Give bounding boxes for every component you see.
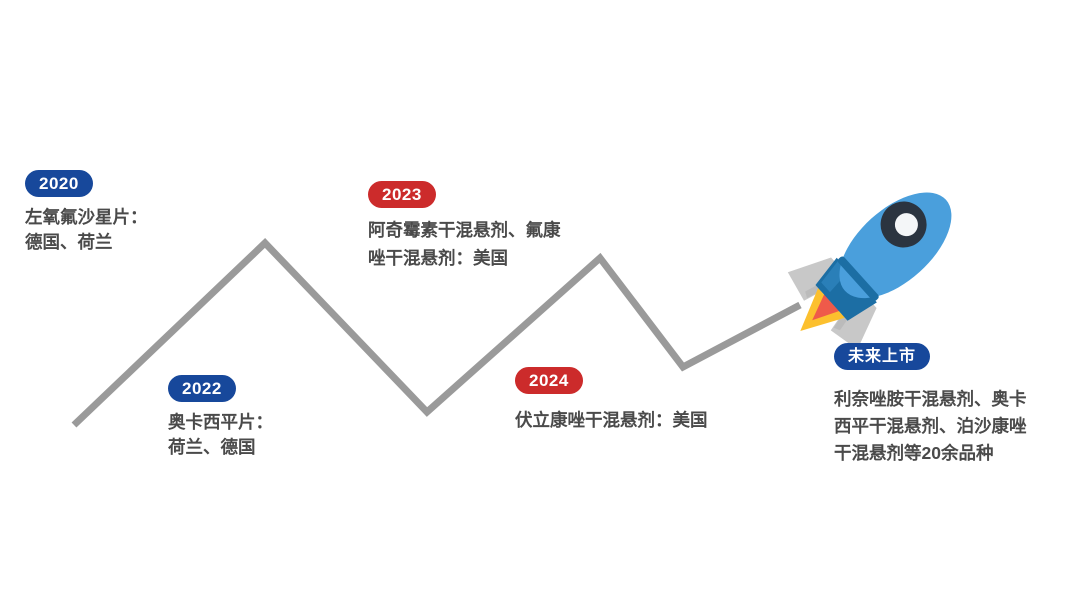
milestone-2024-description: 伏立康唑干混悬剂：美国: [515, 408, 708, 433]
milestone-future[interactable]: 未来上市 利奈唑胺干混悬剂、奥卡 西平干混悬剂、泊沙康唑 干混悬剂等20余品种: [834, 343, 1027, 467]
milestone-2020-badge[interactable]: 2020: [25, 170, 93, 197]
milestone-2024-badge[interactable]: 2024: [515, 367, 583, 394]
milestone-2020-description: 左氧氟沙星片： 德国、荷兰: [25, 205, 148, 255]
milestone-2022-description: 奥卡西平片： 荷兰、德国: [168, 410, 273, 460]
milestone-2023-description: 阿奇霉素干混悬剂、氟康 唑干混悬剂：美国: [368, 216, 561, 272]
milestone-2023[interactable]: 2023 阿奇霉素干混悬剂、氟康 唑干混悬剂：美国: [368, 181, 561, 272]
milestone-future-badge[interactable]: 未来上市: [834, 343, 930, 370]
milestone-2022-badge[interactable]: 2022: [168, 375, 236, 402]
rocket-icon: [766, 161, 981, 369]
milestone-2022[interactable]: 2022 奥卡西平片： 荷兰、德国: [168, 375, 273, 460]
infographic-canvas: 2020 左氧氟沙星片： 德国、荷兰 2022 奥卡西平片： 荷兰、德国 202…: [0, 0, 1080, 608]
milestone-2023-badge[interactable]: 2023: [368, 181, 436, 208]
milestone-2020[interactable]: 2020 左氧氟沙星片： 德国、荷兰: [25, 170, 148, 255]
trend-line-chart: [0, 0, 1080, 608]
milestone-future-description: 利奈唑胺干混悬剂、奥卡 西平干混悬剂、泊沙康唑 干混悬剂等20余品种: [834, 386, 1027, 467]
milestone-2024[interactable]: 2024 伏立康唑干混悬剂：美国: [515, 367, 708, 433]
